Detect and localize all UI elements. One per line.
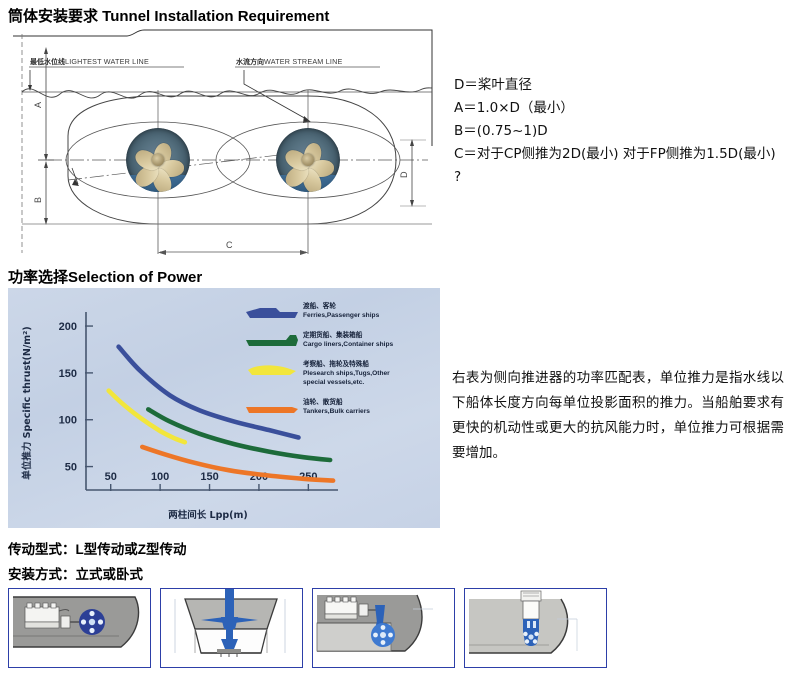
mounting-type-line: 安装方式：立式或卧式 <box>8 563 143 583</box>
legend-research-silhouette <box>248 365 296 375</box>
page-root: 筒体安装要求 Tunnel Installation Requirement 最… <box>0 0 790 679</box>
legend-entry-1: 定期货船、集装箱船Cargo liners,Container ships <box>246 330 393 348</box>
x-tick-100: 100 <box>151 471 169 483</box>
thumbnail-vertical-l-drive-section[interactable] <box>160 588 303 668</box>
legend-ferry-silhouette <box>246 308 298 318</box>
legend-label-en-3: Tankers,Bulk carriers <box>303 408 370 415</box>
installation-thumbnail-row <box>8 588 607 668</box>
tunnel-installation-drawing: 最低水位线 LIGHTEST WATER LINE 水流方向 WATER STR… <box>8 28 440 258</box>
dimension-label-d: D <box>399 171 409 178</box>
legend-label-en-0: Ferries,Passenger ships <box>303 312 380 319</box>
legend-entry-3: 油轮、散货船Tankers,Bulk carriers <box>246 397 370 415</box>
specific-thrust-chart: 50100150200 50100150200250 单位推力 Specific… <box>8 288 440 528</box>
propeller-photo-left <box>126 128 190 192</box>
thumbnail-vertical-drive-hull[interactable] <box>464 588 607 668</box>
legend-label-en2-2: special vessels,etc. <box>303 379 364 386</box>
legend-label-cn-0: 渡船、客轮 <box>303 301 336 310</box>
x-axis-title: 两柱间长 Lpp(m) <box>168 509 248 521</box>
page-title-selection-of-power: 功率选择Selection of Power <box>8 266 202 287</box>
legend-label-cn-3: 油轮、散货船 <box>303 397 343 406</box>
drive-type-line: 传动型式：L型传动或Z型传动 <box>8 538 187 558</box>
legend-tanker-silhouette <box>246 407 298 413</box>
formula-item-d: D＝桨叶直径 <box>454 74 784 97</box>
formula-item-b: B＝(0.75~1)D <box>454 120 784 143</box>
y-tick-150: 150 <box>59 368 77 380</box>
thumbnail-horizontal-engine-driven-thruster[interactable] <box>8 588 151 668</box>
propeller-photo-right <box>276 128 340 192</box>
dimension-label-c: C <box>226 240 233 250</box>
dimension-label-b: B <box>33 197 43 203</box>
svg-text:WATER STREAM LINE: WATER STREAM LINE <box>264 57 342 66</box>
legend-entry-2: 考察船、拖轮及特殊船Plesearch ships,Tugs,Otherspec… <box>248 359 390 386</box>
formula-list: D＝桨叶直径 A＝1.0×D（最小） B＝(0.75~1)D C＝对于CP侧推为… <box>454 74 784 189</box>
legend-label-en-1: Cargo liners,Container ships <box>303 341 393 348</box>
svg-text:最低水位线: 最低水位线 <box>30 57 65 66</box>
x-tick-50: 50 <box>105 471 117 483</box>
chart-description-paragraph: 右表为侧向推进器的功率匹配表，单位推力是指水线以下船体长度方向每单位投影面积的推… <box>452 366 784 466</box>
y-tick-200: 200 <box>59 321 77 333</box>
formula-item-question: ? <box>454 166 784 189</box>
legend-label-cn-2: 考察船、拖轮及特殊船 <box>303 359 369 368</box>
chart-curve-1 <box>148 409 330 460</box>
y-tick-50: 50 <box>65 462 77 474</box>
legend-label-cn-1: 定期货船、集装箱船 <box>303 330 363 339</box>
legend-cargo-silhouette <box>246 335 298 346</box>
legend-entry-0: 渡船、客轮Ferries,Passenger ships <box>246 301 380 319</box>
page-title-tunnel-installation: 筒体安装要求 Tunnel Installation Requirement <box>8 5 329 26</box>
formula-item-a: A＝1.0×D（最小） <box>454 97 784 120</box>
svg-text:水流方向: 水流方向 <box>236 57 264 66</box>
dimension-label-a: A <box>33 102 43 108</box>
svg-text:LIGHTEST WATER LINE: LIGHTEST WATER LINE <box>65 57 149 66</box>
formula-item-c: C＝对于CP侧推为2D(最小) 对于FP侧推为1.5D(最小) <box>454 143 784 166</box>
x-tick-150: 150 <box>200 471 218 483</box>
y-tick-100: 100 <box>59 415 77 427</box>
thumbnail-horizontal-engine-l-drive-hull[interactable] <box>312 588 455 668</box>
legend-label-en-2: Plesearch ships,Tugs,Other <box>303 370 390 377</box>
y-axis-title: 单位推力 Specific thrust(N/m²) <box>21 326 33 479</box>
